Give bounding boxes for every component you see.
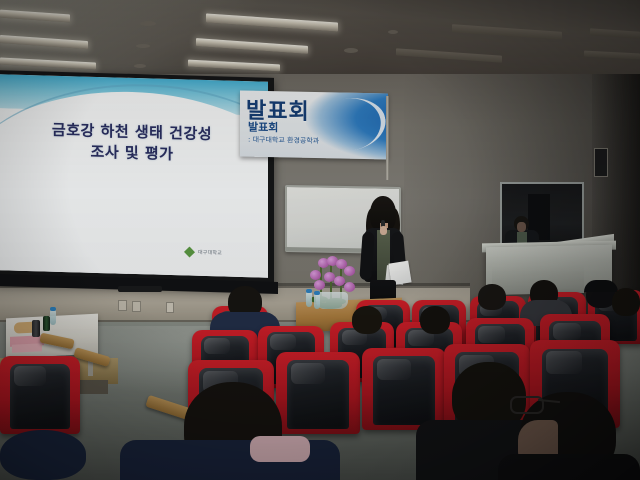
ceiling-vent-icon (388, 30, 398, 34)
ceiling-vent-icon (140, 21, 156, 26)
booth-operator-face (517, 222, 526, 232)
water-bottle (306, 292, 312, 307)
orchid-bloom (310, 270, 321, 280)
leaf-diamond-logo-icon (184, 246, 195, 257)
ceiling-vent-icon (134, 64, 146, 68)
orchid-bloom (344, 266, 355, 276)
audience-head (0, 430, 86, 480)
beverage-can (43, 316, 50, 331)
ceiling-vent-icon (344, 48, 358, 53)
banner-support-pole (386, 96, 389, 180)
water-bottle (314, 294, 320, 309)
slide-logo-text: 대구대학교 (198, 249, 222, 257)
wall-outlet-icon (166, 302, 174, 313)
slide-logo: 대구대학교 (184, 245, 250, 260)
cap-icon (584, 280, 618, 292)
paper-stack (12, 343, 42, 353)
slide-title: 금호강 하천 생태 건강성 조사 및 평가 (8, 118, 256, 167)
auditorium-seat[interactable] (0, 356, 80, 434)
auditorium-seat[interactable] (276, 352, 360, 434)
audience-head (420, 306, 450, 334)
event-banner: 발표회 발표회 : 대구대학교 환경공학과 (240, 90, 388, 159)
audience-shoulders (498, 454, 640, 480)
banner-organization: : 대구대학교 환경공학과 (248, 135, 319, 146)
water-bottle (50, 310, 56, 325)
orchid-bloom (314, 280, 325, 290)
screen-roller-handle (118, 286, 162, 292)
projected-slide: 금호강 하천 생태 건강성 조사 및 평가 대구대학교 (0, 74, 268, 278)
audience-head (352, 306, 382, 334)
audience-head (612, 288, 640, 316)
audience-head (478, 284, 506, 310)
orchid-bloom (344, 282, 355, 292)
projection-screen: 금호강 하천 생태 건강성 조사 및 평가 대구대학교 (0, 70, 274, 290)
ceiling-vent-icon (136, 44, 150, 48)
presenter-hand (380, 226, 387, 235)
audience-collar (250, 436, 310, 462)
wall-outlet-icon (118, 300, 127, 311)
auditorium-photo: 금호강 하천 생태 건강성 조사 및 평가 대구대학교 발표회 발표회 : 대구… (0, 0, 640, 480)
wall-outlet-icon (132, 301, 141, 312)
banner-subtitle: 발표회 (248, 119, 278, 136)
beverage-can (32, 320, 40, 337)
auditorium-seat[interactable] (362, 348, 446, 430)
flower-vase (316, 292, 348, 309)
wall-mounted-box-icon (594, 148, 608, 177)
